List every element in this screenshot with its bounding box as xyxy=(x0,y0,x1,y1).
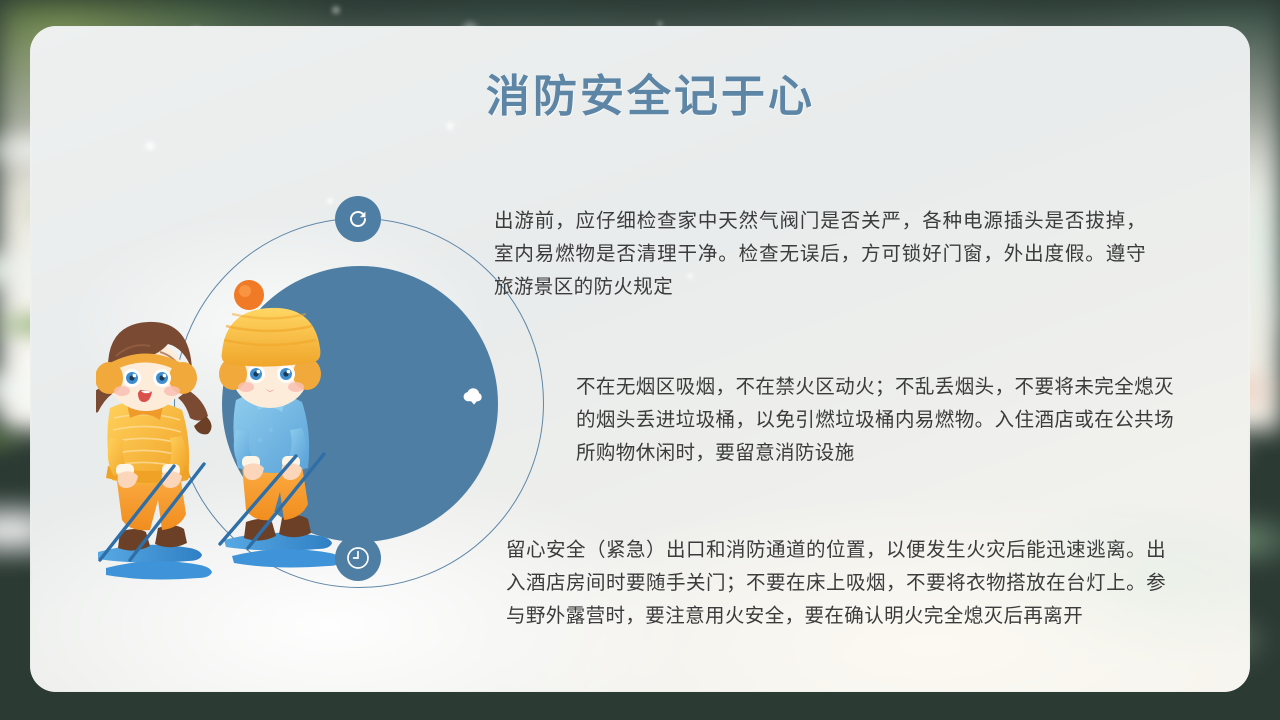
content-paragraph-1: 出游前，应仔细检查家中天然气阀门是否关严，各种电源插头是否拔掉，室内易燃物是否清… xyxy=(494,205,1146,304)
timeline-node-clock[interactable] xyxy=(335,535,381,581)
skiing-children-illustration xyxy=(96,260,426,590)
page-title: 消防安全记于心 xyxy=(486,60,815,124)
girl-figure xyxy=(96,322,212,580)
clock-icon xyxy=(345,545,371,571)
content-paragraph-3: 留心安全（紧急）出口和消防通道的位置，以便发生火灾后能迅速逃离。出入酒店房间时要… xyxy=(506,534,1166,633)
refresh-icon xyxy=(346,207,370,231)
timeline-node-refresh[interactable] xyxy=(335,196,381,242)
boy-figure xyxy=(219,280,342,567)
content-paragraph-2: 不在无烟区吸烟，不在禁火区动火；不乱丢烟头，不要将未完全熄灭的烟头丢进垃圾桶，以… xyxy=(576,371,1174,470)
timeline-graphic xyxy=(96,200,516,620)
cloud-download-icon xyxy=(461,384,487,408)
timeline-node-cloud-download[interactable] xyxy=(451,373,497,419)
